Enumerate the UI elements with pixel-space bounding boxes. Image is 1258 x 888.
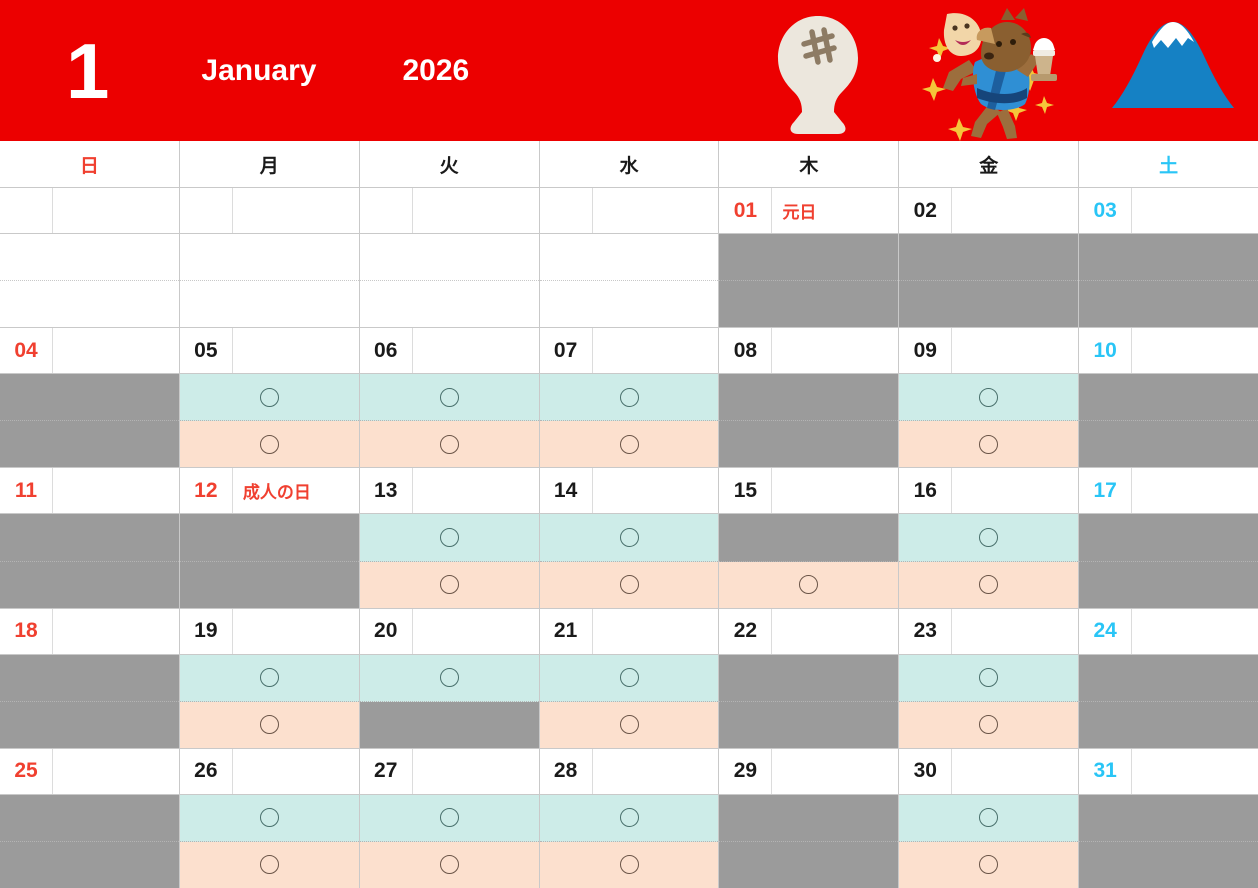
slot-am-closed[interactable]: AM xyxy=(1079,514,1258,561)
day-date-strip: 09 xyxy=(899,328,1078,374)
day-number: 27 xyxy=(360,749,413,794)
day-event-label xyxy=(233,188,359,233)
slot-am-closed[interactable]: AM xyxy=(1079,234,1258,281)
day-number: 08 xyxy=(719,328,772,373)
day-event-label xyxy=(53,749,179,794)
calendar-empty-cell xyxy=(180,188,360,327)
slot-pm-blank xyxy=(180,281,359,327)
day-date-strip xyxy=(360,188,539,234)
availability-open-circle-icon xyxy=(979,435,998,454)
day-event-label xyxy=(593,328,719,373)
calendar-day-cell[interactable]: 13 xyxy=(360,468,540,607)
day-number: 24 xyxy=(1079,609,1132,654)
day-event-label xyxy=(1132,749,1258,794)
calendar-day-cell[interactable]: 19 xyxy=(180,609,360,748)
availability-open-circle-icon xyxy=(440,528,459,547)
day-event-label xyxy=(772,749,898,794)
day-number: 19 xyxy=(180,609,233,654)
day-date-strip: 25 xyxy=(0,749,179,795)
availability-open-circle-icon xyxy=(440,855,459,874)
day-event-label xyxy=(1132,328,1258,373)
calendar-day-cell[interactable]: 04AMPM xyxy=(0,328,180,467)
slot-am-blank xyxy=(360,234,539,281)
availability-open-circle-icon xyxy=(620,668,639,687)
slot-am-open[interactable] xyxy=(540,514,719,561)
day-number xyxy=(540,188,593,233)
slot-am-closed[interactable]: AM xyxy=(0,514,179,561)
availability-open-circle-icon xyxy=(799,575,818,594)
calendar-day-cell[interactable]: 31AMPM xyxy=(1079,749,1258,888)
day-date-strip xyxy=(180,188,359,234)
weekday-header-tue: 火 xyxy=(360,141,540,187)
day-event-label xyxy=(772,468,898,513)
day-event-label xyxy=(1132,609,1258,654)
header-year: 2026 xyxy=(402,54,469,88)
calendar-empty-cell xyxy=(0,188,180,327)
calendar-day-cell[interactable]: 26 xyxy=(180,749,360,888)
slot-am-open[interactable] xyxy=(360,795,539,842)
day-number xyxy=(360,188,413,233)
slot-pm-closed[interactable]: PM xyxy=(0,562,179,608)
slot-am-blank xyxy=(180,234,359,281)
slot-pm-open[interactable] xyxy=(899,562,1078,608)
slot-pm-open[interactable] xyxy=(540,842,719,888)
calendar-week-row: 25AMPM26272829AMPM3031AMPM xyxy=(0,749,1258,888)
day-date-strip: 22 xyxy=(719,609,898,655)
day-event-label xyxy=(413,188,539,233)
availability-open-circle-icon xyxy=(620,715,639,734)
calendar-day-cell[interactable]: 14 xyxy=(540,468,720,607)
slot-pm-closed[interactable]: PM xyxy=(719,281,898,327)
calendar-day-cell[interactable]: 30 xyxy=(899,749,1079,888)
slot-pm-closed[interactable]: PM xyxy=(1079,842,1258,888)
calendar-day-cell[interactable]: 06 xyxy=(360,328,540,467)
availability-open-circle-icon xyxy=(620,388,639,407)
day-date-strip: 20 xyxy=(360,609,539,655)
mayudama-rice-cake-decoration-icon xyxy=(738,0,898,141)
day-date-strip: 15 xyxy=(719,468,898,514)
slot-pm-open[interactable] xyxy=(360,842,539,888)
calendar-day-cell[interactable]: 08AMPM xyxy=(719,328,899,467)
slot-pm-closed[interactable]: PM xyxy=(0,421,179,467)
slot-pm-open[interactable] xyxy=(180,702,359,748)
availability-open-circle-icon xyxy=(440,808,459,827)
slot-am-closed[interactable]: AM xyxy=(1079,655,1258,702)
day-number: 04 xyxy=(0,328,53,373)
day-event-label xyxy=(952,188,1078,233)
day-date-strip: 08 xyxy=(719,328,898,374)
slot-pm-closed[interactable]: PM xyxy=(0,842,179,888)
calendar-week-row: 04AMPM05060708AMPM0910AMPM xyxy=(0,328,1258,468)
availability-open-circle-icon xyxy=(440,435,459,454)
day-event-label xyxy=(952,749,1078,794)
availability-open-circle-icon xyxy=(620,575,639,594)
day-number: 11 xyxy=(0,468,53,513)
day-date-strip: 30 xyxy=(899,749,1078,795)
calendar-day-cell[interactable]: 29AMPM xyxy=(719,749,899,888)
slot-pm-open[interactable] xyxy=(360,562,539,608)
availability-open-circle-icon xyxy=(620,435,639,454)
slot-am-open[interactable] xyxy=(540,655,719,702)
day-number: 05 xyxy=(180,328,233,373)
day-number xyxy=(0,188,53,233)
availability-open-circle-icon xyxy=(979,388,998,407)
slot-pm-blank xyxy=(360,281,539,327)
slot-am-open[interactable] xyxy=(899,795,1078,842)
header-month-number: 1 xyxy=(66,32,107,110)
day-number: 23 xyxy=(899,609,952,654)
slot-pm-open[interactable] xyxy=(180,842,359,888)
slot-pm-open[interactable] xyxy=(180,421,359,467)
calendar-day-cell[interactable]: 27 xyxy=(360,749,540,888)
day-date-strip: 26 xyxy=(180,749,359,795)
day-event-label: 元日 xyxy=(772,188,898,233)
day-event-label xyxy=(413,468,539,513)
day-event-label xyxy=(952,328,1078,373)
day-event-label xyxy=(53,468,179,513)
slot-am-closed[interactable]: AM xyxy=(0,795,179,842)
day-date-strip: 31 xyxy=(1079,749,1258,795)
day-date-strip: 19 xyxy=(180,609,359,655)
weekday-header-thu: 木 xyxy=(719,141,899,187)
day-event-label xyxy=(53,188,179,233)
slot-am-closed[interactable]: AM xyxy=(719,374,898,421)
slot-pm-closed[interactable]: PM xyxy=(719,421,898,467)
day-date-strip: 12成人の日 xyxy=(180,468,359,514)
day-number: 31 xyxy=(1079,749,1132,794)
day-event-label xyxy=(53,328,179,373)
slot-pm-blank xyxy=(0,281,179,327)
day-date-strip: 01元日 xyxy=(719,188,898,234)
calendar-day-cell[interactable]: 10AMPM xyxy=(1079,328,1258,467)
slot-am-closed[interactable]: AM xyxy=(719,795,898,842)
calendar-day-cell[interactable]: 16 xyxy=(899,468,1079,607)
day-date-strip: 21 xyxy=(540,609,719,655)
day-date-strip: 23 xyxy=(899,609,1078,655)
day-number: 16 xyxy=(899,468,952,513)
availability-open-circle-icon xyxy=(620,808,639,827)
day-event-label xyxy=(233,609,359,654)
slot-am-closed[interactable]: AM xyxy=(899,234,1078,281)
day-number: 22 xyxy=(719,609,772,654)
slot-am-open[interactable] xyxy=(540,795,719,842)
day-event-label xyxy=(413,328,539,373)
day-event-label xyxy=(593,609,719,654)
day-date-strip: 11 xyxy=(0,468,179,514)
availability-open-circle-icon xyxy=(979,668,998,687)
day-event-label xyxy=(952,468,1078,513)
day-number: 20 xyxy=(360,609,413,654)
day-number: 28 xyxy=(540,749,593,794)
calendar-day-cell[interactable]: 25AMPM xyxy=(0,749,180,888)
slot-am-open[interactable] xyxy=(360,514,539,561)
slot-am-closed[interactable]: AM xyxy=(180,514,359,561)
calendar-day-cell[interactable]: 02AMPM xyxy=(899,188,1079,327)
calendar-day-cell[interactable]: 15AM xyxy=(719,468,899,607)
day-date-strip: 17 xyxy=(1079,468,1258,514)
day-date-strip: 14 xyxy=(540,468,719,514)
day-event-label xyxy=(413,749,539,794)
availability-open-circle-icon xyxy=(979,855,998,874)
slot-pm-open[interactable] xyxy=(899,702,1078,748)
calendar-day-cell[interactable]: 05 xyxy=(180,328,360,467)
mount-fuji-icon xyxy=(1098,0,1248,141)
slot-pm-closed[interactable]: PM xyxy=(719,702,898,748)
calendar-day-cell[interactable]: 01元日AMPM xyxy=(719,188,899,327)
availability-open-circle-icon xyxy=(260,388,279,407)
availability-open-circle-icon xyxy=(260,715,279,734)
calendar-day-cell[interactable]: 22AMPM xyxy=(719,609,899,748)
day-number: 13 xyxy=(360,468,413,513)
slot-pm-open[interactable] xyxy=(540,562,719,608)
day-number: 09 xyxy=(899,328,952,373)
slot-pm-closed[interactable]: PM xyxy=(719,842,898,888)
horse-in-kimono-with-kadomatsu-icon xyxy=(903,0,1083,141)
day-date-strip xyxy=(0,188,179,234)
day-date-strip: 03 xyxy=(1079,188,1258,234)
day-number: 12 xyxy=(180,468,233,513)
calendar-week-row: 11AMPM12成人の日AMPM131415AM1617AMPM xyxy=(0,468,1258,608)
slot-am-closed[interactable]: AM xyxy=(1079,795,1258,842)
slot-pm-open[interactable] xyxy=(540,702,719,748)
availability-open-circle-icon xyxy=(979,715,998,734)
day-number: 02 xyxy=(899,188,952,233)
day-number: 26 xyxy=(180,749,233,794)
day-number: 07 xyxy=(540,328,593,373)
calendar-day-cell[interactable]: 18AMPM xyxy=(0,609,180,748)
slot-pm-open[interactable] xyxy=(360,421,539,467)
day-date-strip: 29 xyxy=(719,749,898,795)
day-event-label xyxy=(952,609,1078,654)
day-date-strip: 07 xyxy=(540,328,719,374)
calendar-day-cell[interactable]: 21 xyxy=(540,609,720,748)
day-number: 03 xyxy=(1079,188,1132,233)
day-number: 18 xyxy=(0,609,53,654)
weekday-header-fri: 金 xyxy=(899,141,1079,187)
day-number: 01 xyxy=(719,188,772,233)
day-number: 30 xyxy=(899,749,952,794)
weekday-header-row: 日 月 火 水 木 金 土 xyxy=(0,141,1258,188)
calendar-day-cell[interactable]: 24AMPM xyxy=(1079,609,1258,748)
slot-am-closed[interactable]: AM xyxy=(719,655,898,702)
header-illustrations xyxy=(698,0,1258,141)
day-date-strip: 04 xyxy=(0,328,179,374)
availability-open-circle-icon xyxy=(979,575,998,594)
calendar-day-cell[interactable]: 17AMPM xyxy=(1079,468,1258,607)
slot-am-open[interactable] xyxy=(180,795,359,842)
header-month-name: January xyxy=(201,54,316,88)
availability-open-circle-icon xyxy=(260,668,279,687)
weekday-header-wed: 水 xyxy=(540,141,720,187)
day-number: 14 xyxy=(540,468,593,513)
slot-am-open[interactable] xyxy=(360,374,539,421)
day-date-strip: 02 xyxy=(899,188,1078,234)
slot-am-open[interactable] xyxy=(540,374,719,421)
day-number: 15 xyxy=(719,468,772,513)
day-date-strip: 18 xyxy=(0,609,179,655)
availability-open-circle-icon xyxy=(260,808,279,827)
availability-open-circle-icon xyxy=(260,855,279,874)
day-event-label xyxy=(53,609,179,654)
slot-pm-closed[interactable]: PM xyxy=(1079,562,1258,608)
slot-am-closed[interactable]: AM xyxy=(1079,374,1258,421)
calendar-day-cell[interactable]: 09 xyxy=(899,328,1079,467)
slot-pm-closed[interactable]: PM xyxy=(0,702,179,748)
day-event-label xyxy=(593,188,719,233)
slot-pm-closed[interactable]: PM xyxy=(1079,281,1258,327)
slot-am-closed[interactable]: AM xyxy=(0,374,179,421)
day-event-label xyxy=(233,328,359,373)
day-number: 25 xyxy=(0,749,53,794)
calendar-day-cell[interactable]: 11AMPM xyxy=(0,468,180,607)
slot-am-open[interactable] xyxy=(899,655,1078,702)
slot-am-blank xyxy=(540,234,719,281)
slot-am-closed[interactable]: AM xyxy=(0,655,179,702)
calendar-weeks: 01元日AMPM02AMPM03AMPM04AMPM05060708AMPM09… xyxy=(0,188,1258,888)
slot-pm-closed[interactable]: PM xyxy=(180,562,359,608)
day-date-strip: 10 xyxy=(1079,328,1258,374)
weekday-header-sun: 日 xyxy=(0,141,180,187)
slot-pm-open[interactable] xyxy=(719,562,898,608)
day-number: 29 xyxy=(719,749,772,794)
calendar-empty-cell xyxy=(540,188,720,327)
availability-open-circle-icon xyxy=(620,528,639,547)
day-event-label xyxy=(593,468,719,513)
calendar-week-row: 01元日AMPM02AMPM03AMPM xyxy=(0,188,1258,328)
calendar-day-cell[interactable]: 07 xyxy=(540,328,720,467)
day-event-label: 成人の日 xyxy=(233,468,359,513)
slot-pm-open[interactable] xyxy=(899,842,1078,888)
day-date-strip: 28 xyxy=(540,749,719,795)
availability-open-circle-icon xyxy=(440,388,459,407)
slot-am-closed[interactable]: AM xyxy=(719,514,898,561)
weekday-header-mon: 月 xyxy=(180,141,360,187)
day-number: 21 xyxy=(540,609,593,654)
slot-am-open[interactable] xyxy=(180,655,359,702)
availability-open-circle-icon xyxy=(979,528,998,547)
availability-open-circle-icon xyxy=(979,808,998,827)
day-event-label xyxy=(233,749,359,794)
weekday-header-sat: 土 xyxy=(1079,141,1258,187)
calendar-week-row: 18AMPM1920PM2122AMPM2324AMPM xyxy=(0,609,1258,749)
day-number: 10 xyxy=(1079,328,1132,373)
slot-pm-closed[interactable]: PM xyxy=(1079,702,1258,748)
day-number xyxy=(180,188,233,233)
calendar-day-cell[interactable]: 12成人の日AMPM xyxy=(180,468,360,607)
slot-pm-closed[interactable]: PM xyxy=(899,281,1078,327)
calendar-day-cell[interactable]: 03AMPM xyxy=(1079,188,1258,327)
day-date-strip: 06 xyxy=(360,328,539,374)
day-date-strip xyxy=(540,188,719,234)
slot-am-blank xyxy=(0,234,179,281)
slot-am-closed[interactable]: AM xyxy=(719,234,898,281)
availability-open-circle-icon xyxy=(260,435,279,454)
calendar-header: 1 January 2026 xyxy=(0,0,1258,141)
day-event-label xyxy=(1132,468,1258,513)
day-number: 06 xyxy=(360,328,413,373)
day-date-strip: 13 xyxy=(360,468,539,514)
slot-pm-open[interactable] xyxy=(540,421,719,467)
slot-pm-blank xyxy=(540,281,719,327)
day-event-label xyxy=(772,609,898,654)
slot-pm-open[interactable] xyxy=(899,421,1078,467)
slot-am-open[interactable] xyxy=(360,655,539,702)
availability-open-circle-icon xyxy=(620,855,639,874)
day-date-strip: 27 xyxy=(360,749,539,795)
slot-am-open[interactable] xyxy=(899,374,1078,421)
calendar-day-cell[interactable]: 20PM xyxy=(360,609,540,748)
slot-am-open[interactable] xyxy=(180,374,359,421)
slot-am-open[interactable] xyxy=(899,514,1078,561)
day-date-strip: 05 xyxy=(180,328,359,374)
calendar-empty-cell xyxy=(360,188,540,327)
calendar-day-cell[interactable]: 23 xyxy=(899,609,1079,748)
day-date-strip: 24 xyxy=(1079,609,1258,655)
day-number: 17 xyxy=(1079,468,1132,513)
availability-open-circle-icon xyxy=(440,668,459,687)
day-event-label xyxy=(772,328,898,373)
calendar-page: 1 January 2026 xyxy=(0,0,1258,888)
day-event-label xyxy=(593,749,719,794)
calendar-day-cell[interactable]: 28 xyxy=(540,749,720,888)
availability-open-circle-icon xyxy=(440,575,459,594)
day-date-strip: 16 xyxy=(899,468,1078,514)
day-event-label xyxy=(1132,188,1258,233)
slot-pm-closed[interactable]: PM xyxy=(360,702,539,748)
slot-pm-closed[interactable]: PM xyxy=(1079,421,1258,467)
day-event-label xyxy=(413,609,539,654)
